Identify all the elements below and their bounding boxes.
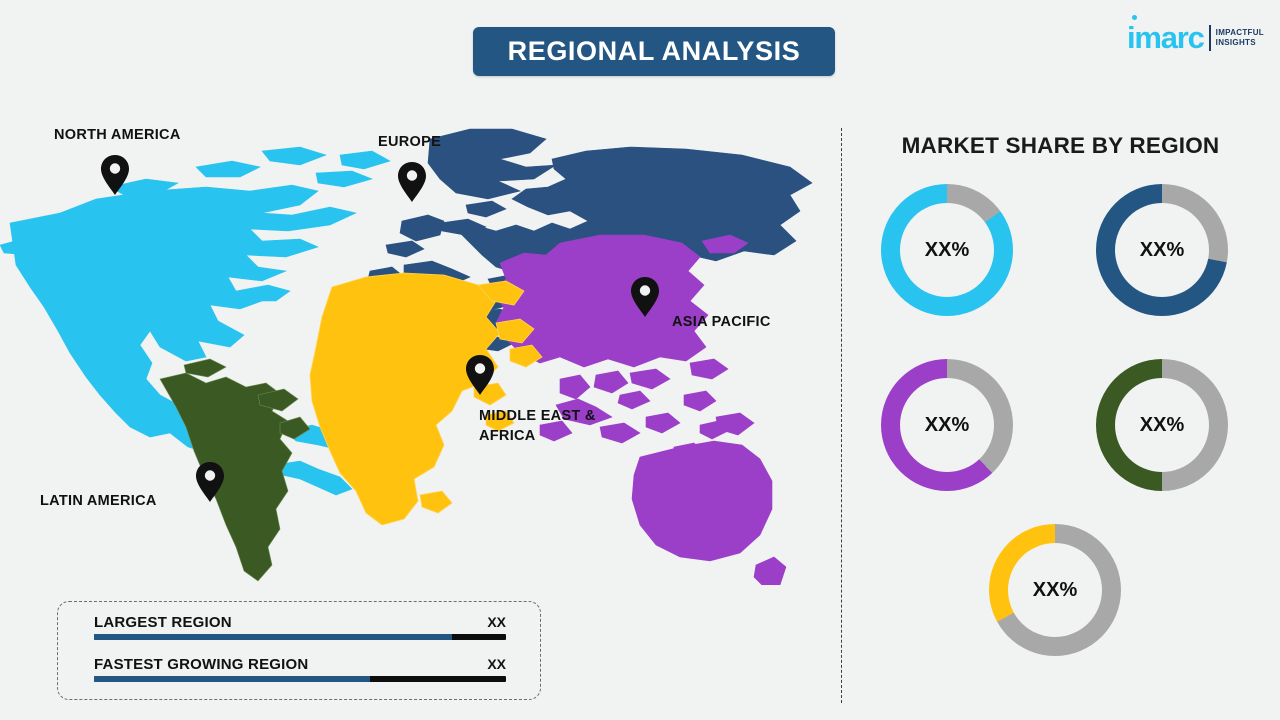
- donut-chart-asia-pacific: XX%: [881, 359, 1013, 491]
- legend-value-largest-region: XX: [487, 614, 506, 630]
- legend-label-fastest-growing-region: FASTEST GROWING REGION: [94, 656, 308, 673]
- imarc-logo: imarc IMPACTFUL INSIGHTS: [1127, 22, 1264, 53]
- legend-label-largest-region: LARGEST REGION: [94, 614, 232, 631]
- donut-value-label: XX%: [1140, 239, 1184, 262]
- donut-center: XX%: [1115, 203, 1209, 297]
- donut-chart-north-america: XX%: [881, 184, 1013, 316]
- market-share-donut-group: XX% XX% XX% XX% XX%: [860, 182, 1260, 682]
- logo-tagline-line2: INSIGHTS: [1216, 38, 1264, 48]
- legend-value-fastest-growing-region: XX: [487, 656, 506, 672]
- section-divider: [841, 128, 842, 703]
- legend-progress-fill: [94, 676, 370, 682]
- map-pin-icon-latin-america: [195, 462, 225, 502]
- legend-progress-fill: [94, 634, 452, 640]
- donut-value-label: XX%: [925, 414, 969, 437]
- donut-center: XX%: [900, 378, 994, 472]
- map-label-latin-america: LATIN AMERICA: [40, 492, 157, 512]
- map-label-middle-east-africa: MIDDLE EAST & AFRICA: [479, 407, 596, 446]
- map-pin-icon-asia-pacific: [630, 277, 660, 317]
- legend-spacer: [94, 644, 506, 656]
- logo-dot-icon: [1132, 15, 1137, 20]
- donut-chart-europe: XX%: [1096, 184, 1228, 316]
- donut-chart-latin-america: XX%: [1096, 359, 1228, 491]
- legend-progress-fastest-growing-region: [94, 676, 506, 682]
- logo-tagline: IMPACTFUL INSIGHTS: [1216, 28, 1264, 48]
- logo-wordmark: imarc: [1127, 22, 1204, 53]
- market-share-title: MARKET SHARE BY REGION: [841, 133, 1280, 159]
- donut-value-label: XX%: [1140, 414, 1184, 437]
- infographic-canvas: REGIONAL ANALYSIS imarc IMPACTFUL INSIGH…: [0, 0, 1280, 720]
- logo-word-text: imarc: [1127, 20, 1204, 55]
- donut-value-label: XX%: [1033, 579, 1077, 602]
- page-title: REGIONAL ANALYSIS: [508, 36, 801, 67]
- logo-tagline-line1: IMPACTFUL: [1216, 28, 1264, 38]
- logo-divider: [1209, 25, 1211, 51]
- page-title-banner: REGIONAL ANALYSIS: [473, 27, 835, 76]
- legend-progress-largest-region: [94, 634, 506, 640]
- donut-chart-middle-east-africa: XX%: [989, 524, 1121, 656]
- region-summary-box: LARGEST REGION XX FASTEST GROWING REGION…: [57, 601, 541, 700]
- legend-row-largest-region: LARGEST REGION XX: [94, 614, 506, 640]
- donut-value-label: XX%: [925, 239, 969, 262]
- donut-center: XX%: [900, 203, 994, 297]
- map-pin-icon-middle-east-africa: [465, 355, 495, 395]
- map-label-north-america: NORTH AMERICA: [54, 126, 181, 146]
- map-label-asia-pacific: ASIA PACIFIC: [672, 313, 771, 333]
- donut-center: XX%: [1115, 378, 1209, 472]
- donut-center: XX%: [1008, 543, 1102, 637]
- map-pin-icon-europe: [397, 162, 427, 202]
- map-label-europe: EUROPE: [378, 133, 441, 153]
- legend-row-fastest-growing-region: FASTEST GROWING REGION XX: [94, 656, 506, 682]
- map-pin-icon-north-america: [100, 155, 130, 195]
